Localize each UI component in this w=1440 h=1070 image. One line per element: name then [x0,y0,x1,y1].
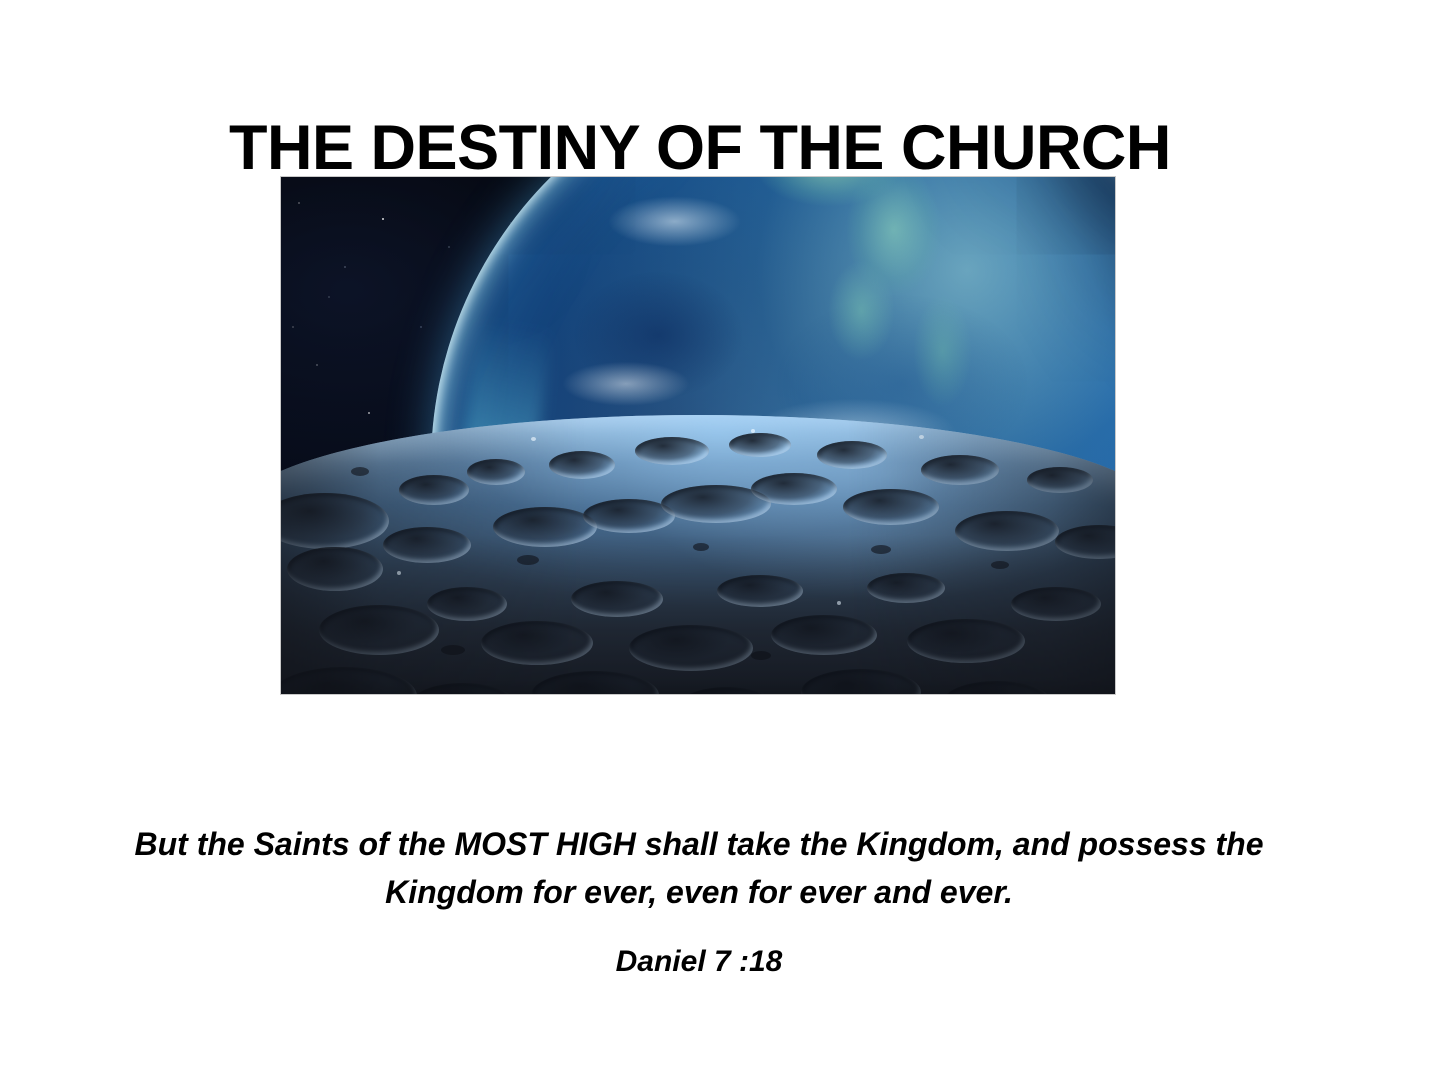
page-title: THE DESTINY OF THE CHURCH [0,114,1400,182]
lunar-surface [281,415,1115,694]
scripture-citation: Daniel 7 :18 [0,942,1398,982]
earthrise-over-moon-image [281,177,1115,694]
lunar-vignette [281,415,1115,694]
scripture-text: But the Saints of the MOST HIGH shall ta… [0,820,1398,916]
presentation-slide: THE DESTINY OF THE CHURCH [0,0,1440,1070]
